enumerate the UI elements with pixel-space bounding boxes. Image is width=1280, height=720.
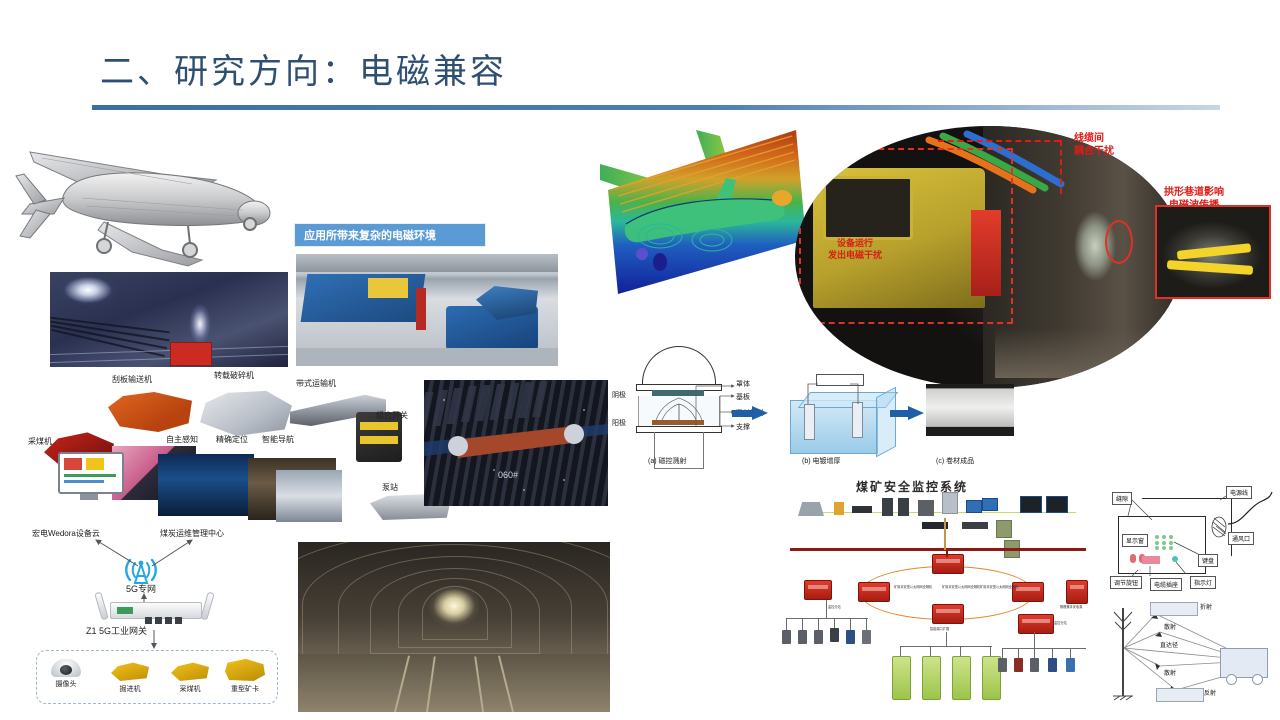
topology-node-bottom — [932, 604, 964, 624]
multipath-receiver-vehicle — [1220, 648, 1268, 678]
label-combination-switch: 组合开关 — [376, 410, 408, 421]
topology-riser — [944, 518, 946, 550]
caption-step-b: (b) 电镀增厚 — [802, 456, 841, 466]
slide-canvas: 二、研究方向：电磁兼容 — [0, 0, 1280, 720]
device-cloud-monitor — [58, 452, 120, 498]
label-direct-path: 直达径 — [1160, 640, 1178, 649]
device-camera: 摄像头 — [51, 659, 81, 689]
label-slot: 缝隙 — [1112, 492, 1132, 505]
equipment-scraper-conveyor — [108, 392, 192, 432]
topology-node-far-right — [1066, 580, 1088, 604]
label-pump-station: 泵站 — [382, 482, 398, 493]
multipath-propagation-diagram: 折射 散射 直达径 散射 反射 — [1098, 596, 1276, 708]
annotation-arch-tunnel-line1: 拱形巷道影响 — [1164, 186, 1224, 199]
topology-node-expander — [1018, 614, 1054, 634]
highlight-circle-tunnel-section — [1105, 220, 1133, 264]
topology-ring-label-mid: 矿用本安型以太网网全隔机 — [942, 584, 980, 589]
device-roadheader: 掘进机 — [111, 661, 149, 694]
label-display-window: 显示窗 — [1122, 534, 1148, 547]
device-roadheader-label: 掘进机 — [111, 684, 149, 694]
device-camera-label: 摄像头 — [51, 679, 81, 689]
annotation-equipment-emi: 设备运行 发出电磁干扰 — [828, 238, 882, 262]
proc-callout-0: 罩体 — [736, 379, 750, 389]
annotation-cable-coupling-line2: 耦合干扰 — [1074, 145, 1114, 158]
gateway-downlink-arrow — [148, 630, 160, 650]
label-precise-positioning: 精确定位 — [216, 434, 248, 445]
5g-industrial-gateway — [96, 592, 214, 622]
topology-node-far-left — [804, 580, 832, 600]
caption-step-a: (a) 磁控溅射 — [648, 456, 687, 466]
environment-banner-text: 应用所带来复杂的电磁环境 — [304, 227, 436, 243]
cable-coupling-dash-line — [938, 140, 1060, 142]
label-scatter-top: 散射 — [1164, 622, 1176, 631]
label-cable-socket: 电缆插座 — [1150, 578, 1182, 591]
label-scraper-conveyor: 刮板输送机 — [112, 374, 152, 385]
label-refraction: 折射 — [1200, 602, 1212, 611]
annotation-equipment-emi-line2: 发出电磁干扰 — [828, 250, 882, 262]
equipment-crusher — [200, 390, 292, 436]
topology-underground-bus — [790, 548, 1086, 551]
page-title: 二、研究方向：电磁兼容 — [100, 44, 507, 93]
topology-node-top — [932, 554, 964, 574]
title-underline-rule — [92, 105, 1220, 110]
label-autonomous-sensing: 自主感知 — [166, 434, 198, 445]
caption-step-c: (c) 卷材成品 — [936, 456, 974, 466]
device-mining-truck: 重型矿卡 — [225, 657, 265, 694]
proc-callout-1: 基板 — [736, 392, 750, 402]
thumb-operators-console — [276, 470, 342, 522]
label-knob: 调节旋钮 — [1110, 576, 1142, 589]
device-mining-truck-label: 重型矿卡 — [225, 684, 265, 694]
topology-ring-label-right: 矿用本安型以太网网全隔机 — [980, 584, 1018, 589]
topology-node-left — [858, 582, 890, 602]
thumb-3d-longwall-render — [424, 380, 608, 506]
environment-banner: 应用所带来复杂的电磁环境 — [294, 223, 486, 247]
label-5g-gateway: Z1 5G工业网关 — [86, 624, 147, 637]
topology-node-label-monitor-left: 监控分站 — [828, 604, 841, 609]
topology-ring-label-left: 矿用本安型以太网网全隔机 — [894, 584, 932, 589]
label-render-tag: 060# — [498, 470, 518, 480]
multipath-reflector — [1156, 688, 1204, 702]
thumb-control-room-screens — [158, 454, 254, 516]
label-reflection: 反射 — [1204, 688, 1216, 697]
cable-coupling-dash-vline — [1060, 140, 1062, 194]
label-belt-conveyor: 带式运输机 — [296, 378, 336, 389]
annotation-equipment-emi-line1: 设备运行 — [828, 238, 882, 250]
topology-node-label-power: 隔爆兼本安电源 — [1060, 604, 1082, 609]
enclosure-emc-diagram: 缝隙 电源线 通风口 显示窗 键盘 调节旋钮 电缆插座 指示灯 — [1098, 476, 1276, 594]
device-shearer-label: 采煤机 — [171, 684, 209, 694]
label-keypad: 键盘 — [1198, 554, 1218, 567]
cloud-link-arrows — [60, 534, 200, 568]
topology-node-label-expander: 智能端口扩展 — [930, 626, 949, 631]
coal-mine-safety-monitoring-topology: 煤矿安全监控系统 — [790, 478, 1090, 708]
photo-arched-tunnel-interior — [298, 542, 610, 712]
uav-illustration — [12, 118, 282, 278]
label-power-cord: 电源线 — [1226, 486, 1252, 499]
topology-node-label-monitor-right: 监控分站 — [1054, 620, 1067, 625]
label-vent: 通风口 — [1228, 532, 1254, 545]
label-coal-shearer: 采煤机 — [28, 436, 52, 447]
photo-underground-roadway — [50, 272, 288, 367]
equipment-blue-machine-thumb — [476, 286, 538, 320]
shielding-material-process-diagram: 罩体 基板 溅射材料 支撑 阴极 阳极 (a) 磁控溅射 — [634, 344, 964, 474]
proc-callout-3: 支撑 — [736, 422, 750, 432]
connected-devices-panel: 摄像头 掘进机 采煤机 重型矿卡 — [36, 650, 278, 704]
label-scatter-bottom: 散射 — [1164, 668, 1176, 677]
label-indicator: 指示灯 — [1190, 576, 1216, 589]
proc-callout-4: 阴极 — [612, 390, 626, 400]
inset-photo-arched-tunnel — [1155, 205, 1271, 299]
label-crusher: 转载破碎机 — [214, 370, 254, 381]
device-shearer: 采煤机 — [171, 661, 209, 694]
proc-callout-5: 阳极 — [612, 418, 626, 428]
annotation-cable-coupling-line1: 线缆间 — [1074, 132, 1114, 145]
annotation-cable-coupling: 线缆间 耦合干扰 — [1074, 132, 1114, 158]
label-intelligent-navigation: 智能导航 — [262, 434, 294, 445]
multipath-refractor — [1150, 602, 1198, 616]
